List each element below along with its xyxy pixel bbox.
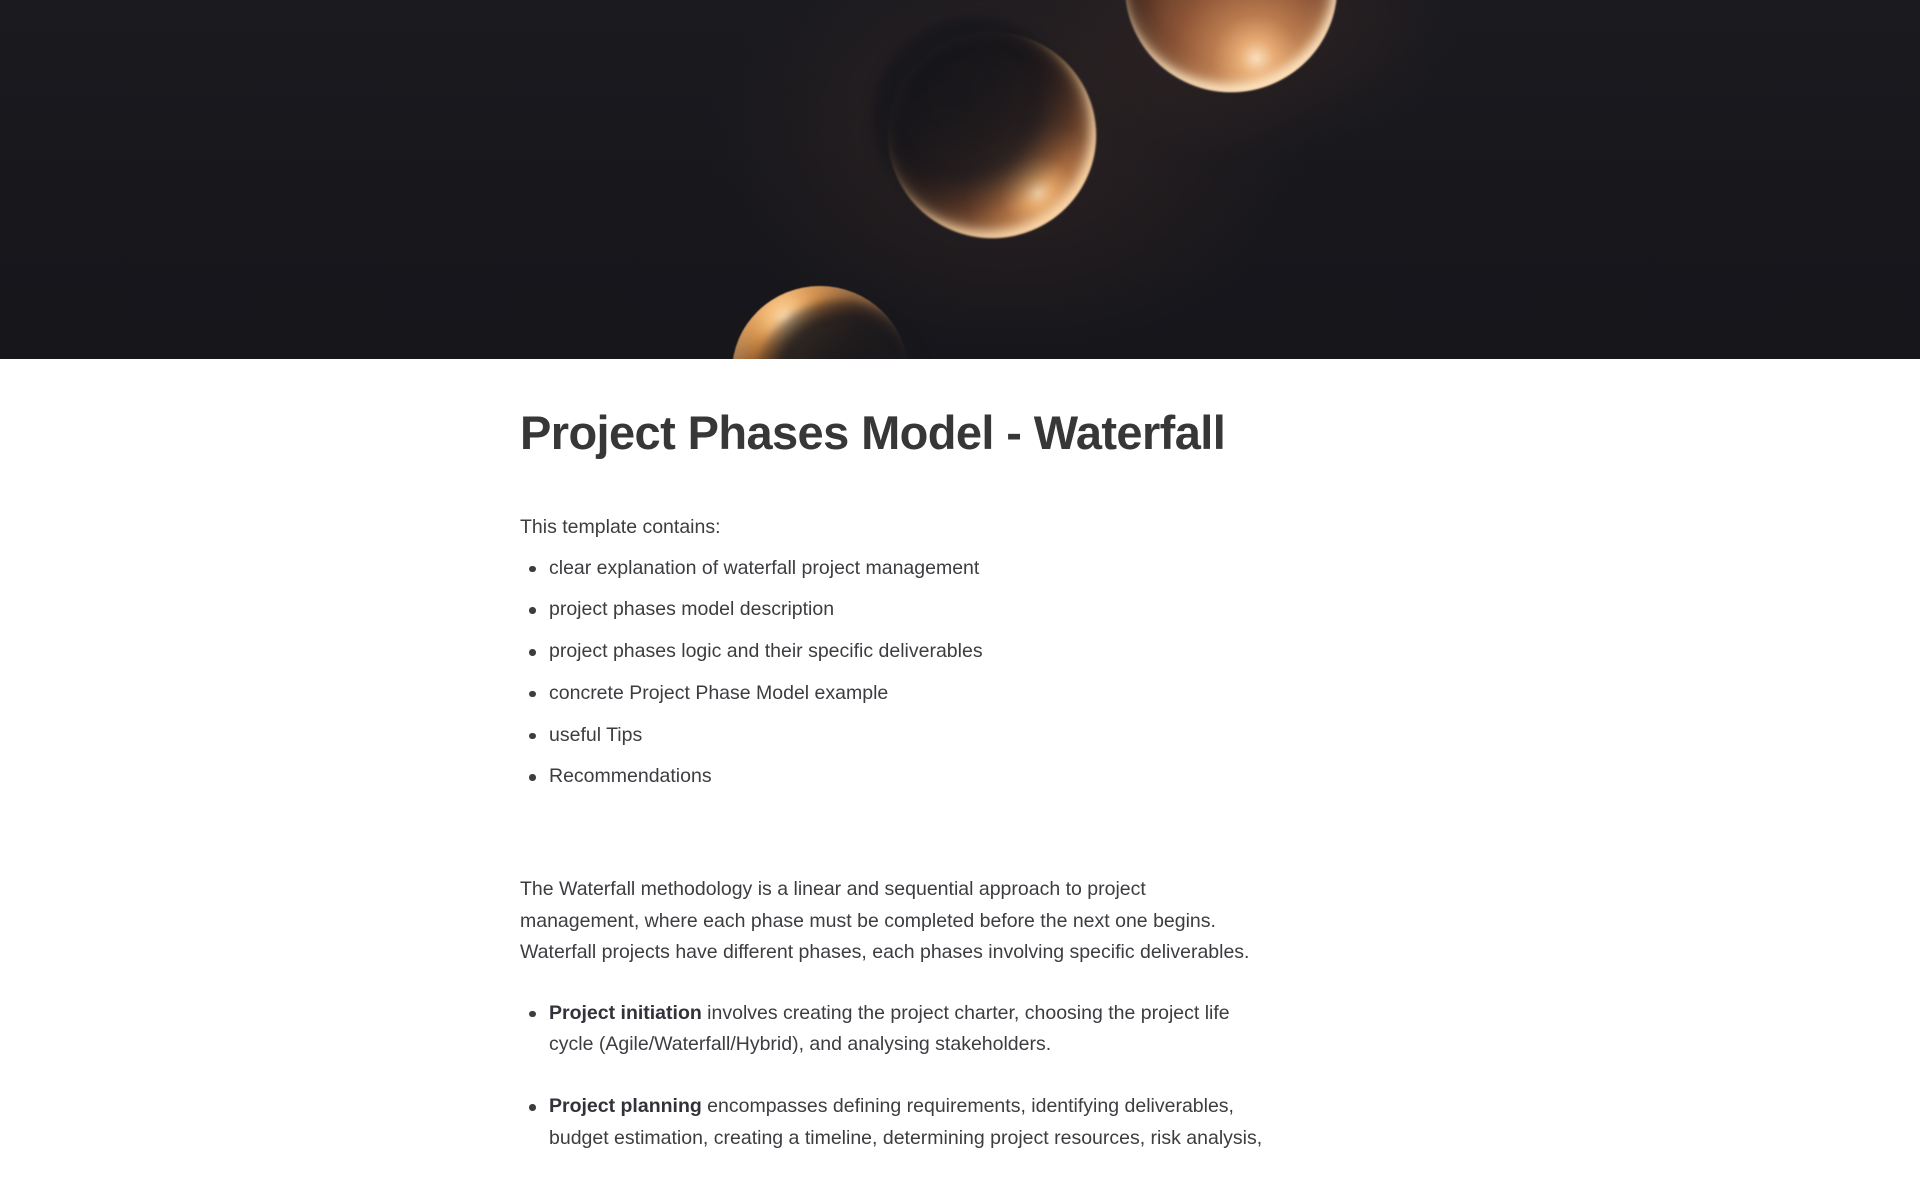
phase-name: Project initiation	[549, 1002, 702, 1024]
list-item[interactable]: project phases logic and their specific …	[520, 637, 1400, 666]
moon-center-shadow-icon	[872, 18, 1078, 224]
cover-image	[0, 0, 1920, 359]
phase-name: Project planning	[549, 1095, 702, 1117]
list-item[interactable]: Project planning encompasses defining re…	[520, 1091, 1265, 1154]
project-phases-list: Project initiation involves creating the…	[520, 969, 1400, 1154]
list-item[interactable]: Project initiation involves creating the…	[520, 998, 1265, 1061]
list-item[interactable]: useful Tips	[520, 721, 1400, 750]
template-contents-list: clear explanation of waterfall project m…	[520, 543, 1400, 792]
document-page: Project Phases Model - Waterfall This te…	[0, 0, 1920, 1199]
methodology-paragraph[interactable]: The Waterfall methodology is a linear an…	[520, 804, 1250, 969]
intro-text[interactable]: This template contains:	[520, 460, 1400, 542]
list-item[interactable]: Recommendations	[520, 762, 1400, 791]
list-item[interactable]: concrete Project Phase Model example	[520, 679, 1400, 708]
list-item[interactable]: clear explanation of waterfall project m…	[520, 554, 1400, 583]
document-content: Project Phases Model - Waterfall This te…	[0, 359, 1920, 1184]
list-item[interactable]: project phases model description	[520, 595, 1400, 624]
page-title[interactable]: Project Phases Model - Waterfall	[520, 359, 1400, 460]
